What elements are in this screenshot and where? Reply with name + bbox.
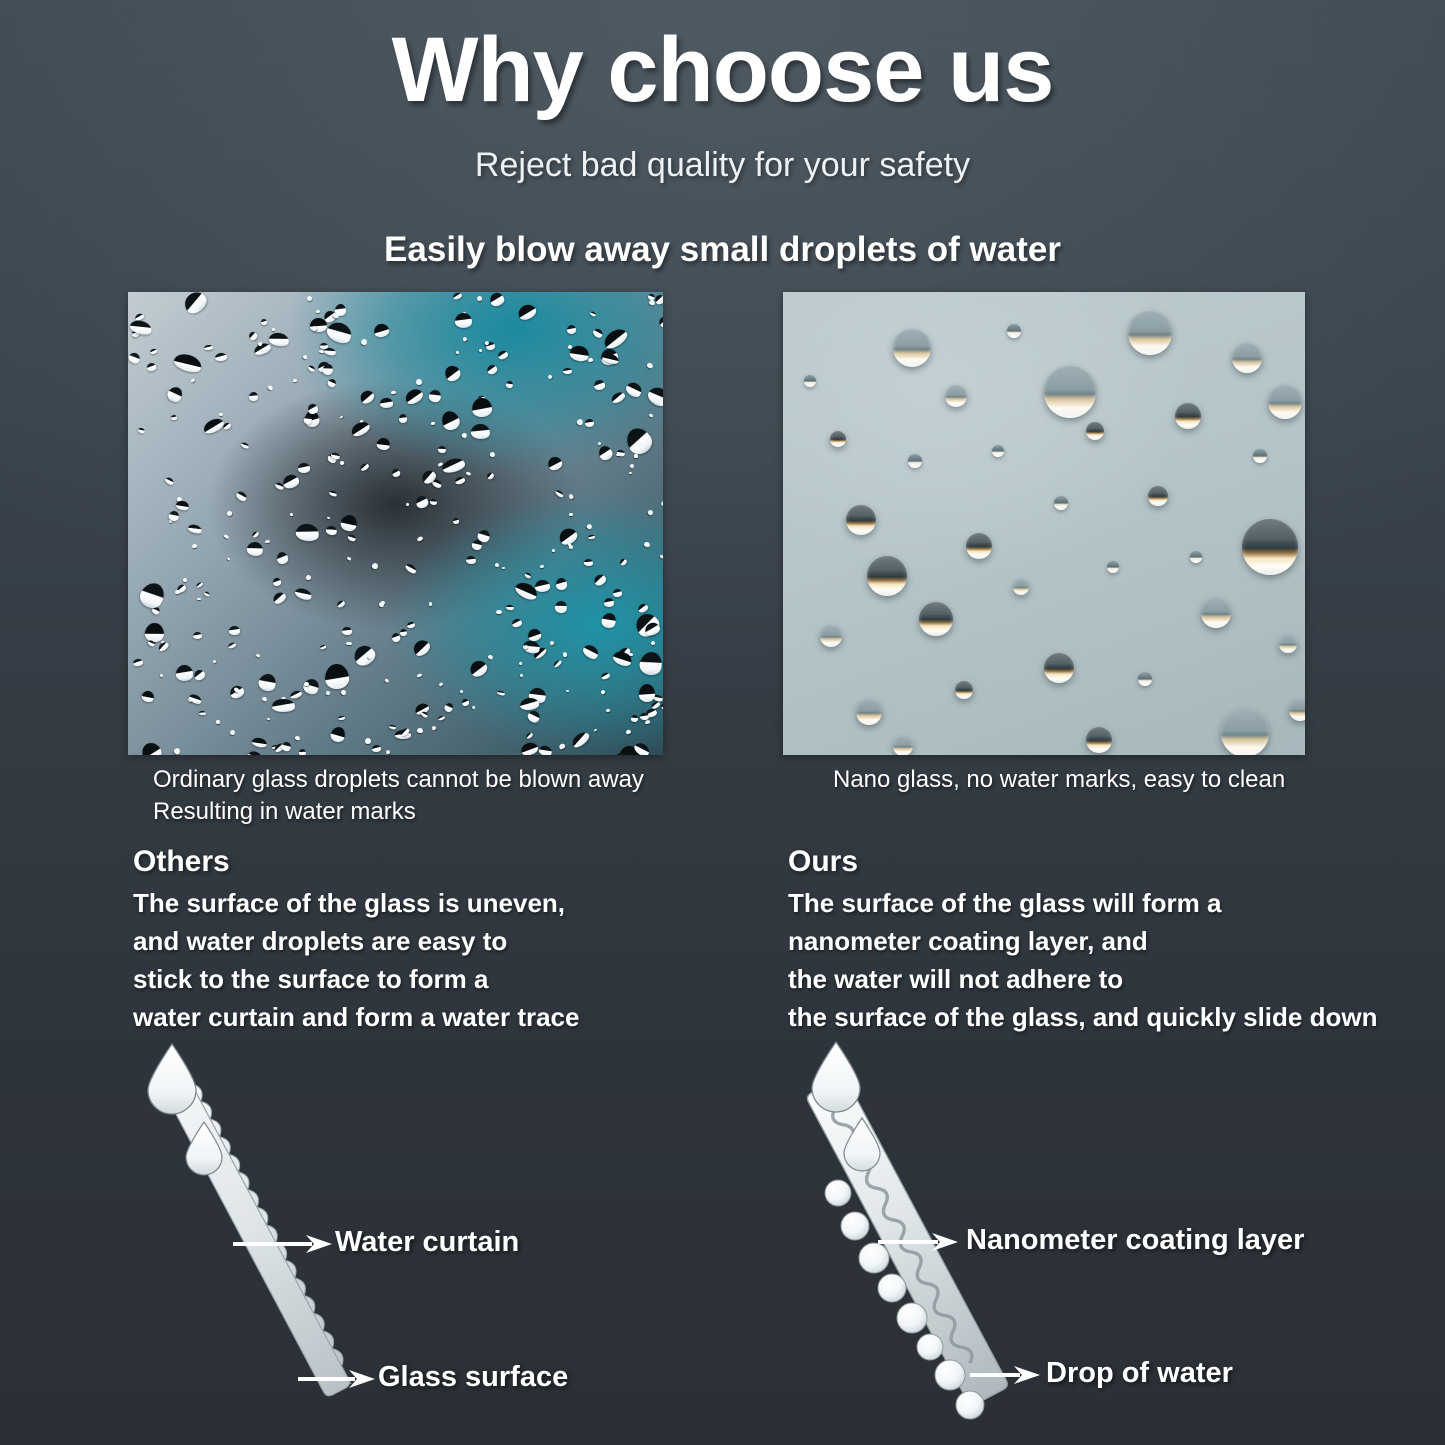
comparison-heading-ours: Ours [788, 845, 1408, 879]
comparison-block-ours: Ours The surface of the glass will form … [788, 845, 1408, 1037]
diagram-label-drop-of-water: Drop of water [1046, 1357, 1233, 1390]
infographic-page: Why choose us Reject bad quality for you… [0, 0, 1445, 1445]
photo-caption-ordinary-line1: Ordinary glass droplets cannot be blown … [153, 764, 693, 796]
comparison-body-others: The surface of the glass is uneven, and … [133, 885, 693, 1037]
photo-ordinary-glass-background [128, 292, 663, 755]
ours-body-line2: nanometer coating layer, and [788, 923, 1408, 961]
ours-body-line1: The surface of the glass will form a [788, 885, 1408, 923]
page-subtitle: Reject bad quality for your safety [0, 146, 1445, 185]
section-heading: Easily blow away small droplets of water [0, 230, 1445, 270]
photo-ordinary-glass [128, 292, 663, 755]
comparison-heading-others: Others [133, 845, 693, 879]
others-body-line2: and water droplets are easy to [133, 923, 693, 961]
photo-caption-ordinary-line2: Resulting in water marks [153, 796, 693, 828]
photo-caption-nano-line1: Nano glass, no water marks, easy to clea… [833, 764, 1353, 796]
diagram-label-nanometer-coating-layer: Nanometer coating layer [966, 1224, 1304, 1257]
diagram-nano-glass: Nanometer coating layer Drop of water [770, 1030, 1430, 1435]
page-title: Why choose us [0, 22, 1445, 119]
ours-body-line3: the water will not adhere to [788, 961, 1408, 999]
water-drop-large-icon [148, 1044, 196, 1114]
comparison-block-others: Others The surface of the glass is uneve… [133, 845, 693, 1037]
photo-nano-glass [783, 292, 1305, 755]
glass-strip-uneven [164, 1077, 356, 1398]
others-body-line1: The surface of the glass is uneven, [133, 885, 693, 923]
diagram-label-glass-surface: Glass surface [378, 1361, 568, 1394]
others-body-line3: stick to the surface to form a [133, 961, 693, 999]
photo-caption-nano: Nano glass, no water marks, easy to clea… [833, 764, 1353, 796]
photo-caption-ordinary: Ordinary glass droplets cannot be blown … [153, 764, 693, 829]
diagram-label-water-curtain: Water curtain [335, 1226, 519, 1259]
comparison-body-ours: The surface of the glass will form a nan… [788, 885, 1408, 1037]
water-drop-large-icon [812, 1042, 860, 1112]
diagram-ordinary-glass: Water curtain Glass surface [120, 1030, 760, 1435]
